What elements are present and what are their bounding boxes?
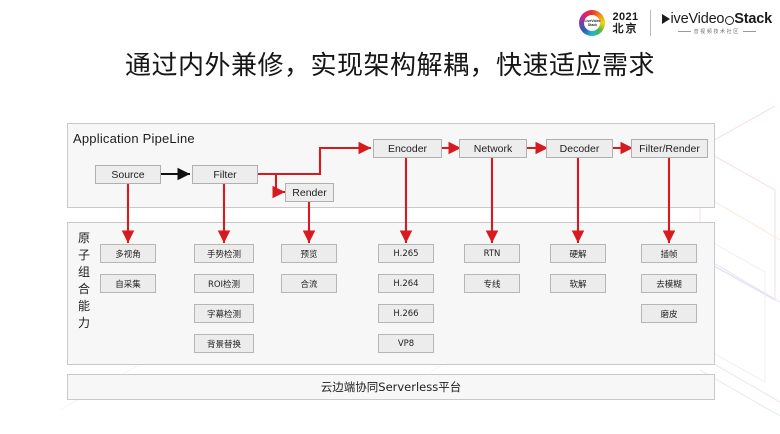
brand-dot-icon xyxy=(725,16,734,25)
atomic-node-filter-render-2[interactable]: 磨皮 xyxy=(641,304,697,323)
atomic-node-encoder-2[interactable]: H.266 xyxy=(378,304,434,323)
atomic-node-filter-3[interactable]: 背景替换 xyxy=(194,334,254,353)
pipeline-node-network[interactable]: Network xyxy=(459,139,527,158)
tagline-dash-left xyxy=(678,31,691,32)
tagline-text: 音视频技术社区 xyxy=(694,28,740,35)
atomic-node-filter-0[interactable]: 手势检测 xyxy=(194,244,254,263)
atomic-node-filter-render-1[interactable]: 去模糊 xyxy=(641,274,697,293)
atomic-node-label: H.266 xyxy=(393,309,418,319)
pipeline-node-label: Network xyxy=(474,143,513,155)
tagline-dash-right xyxy=(743,31,756,32)
atomic-node-render-0[interactable]: 预览 xyxy=(281,244,337,263)
pipeline-node-label: Render xyxy=(292,187,326,199)
conference-city: 北京 xyxy=(612,23,638,36)
pipeline-node-decoder[interactable]: Decoder xyxy=(546,139,613,158)
brand-video: Video xyxy=(688,11,724,27)
atomic-node-filter-1[interactable]: ROI检测 xyxy=(194,274,254,293)
atomic-node-decoder-1[interactable]: 软解 xyxy=(550,274,606,293)
pipeline-node-label: Source xyxy=(111,169,144,181)
atomic-node-label: 合流 xyxy=(300,278,317,290)
atomic-node-label: 手势检测 xyxy=(207,248,241,260)
pipeline-node-filter-render[interactable]: Filter/Render xyxy=(631,139,708,158)
atomic-node-label: 背景替换 xyxy=(207,338,241,350)
atomic-capability-side-label: 原子组合能力 xyxy=(73,230,95,332)
slide-header: LiveVideo Stack 2021 北京 ive Video Stack … xyxy=(579,6,772,40)
atomic-node-label: 预览 xyxy=(300,248,317,260)
pipeline-node-source[interactable]: Source xyxy=(95,165,161,184)
atomic-node-network-1[interactable]: 专线 xyxy=(464,274,520,293)
serverless-platform-label: 云边端协同Serverless平台 xyxy=(321,379,461,395)
atomic-node-encoder-0[interactable]: H.265 xyxy=(378,244,434,263)
pipeline-node-filter[interactable]: Filter xyxy=(192,165,258,184)
pipeline-node-render[interactable]: Render xyxy=(285,183,334,202)
serverless-platform-bar: 云边端协同Serverless平台 xyxy=(67,374,715,400)
atomic-node-source-1[interactable]: 自采集 xyxy=(100,274,156,293)
conference-year-city: 2021 北京 xyxy=(612,11,638,36)
pipeline-node-label: Decoder xyxy=(560,143,600,155)
pipeline-panel-title: Application PipeLine xyxy=(73,131,195,146)
header-divider xyxy=(650,10,651,36)
atomic-node-label: 多视角 xyxy=(115,248,141,260)
livevideostack-wordmark: ive Video Stack xyxy=(662,11,772,27)
atomic-node-filter-render-0[interactable]: 插帧 xyxy=(641,244,697,263)
brand-live: ive xyxy=(671,11,689,27)
brand-stack: Stack xyxy=(734,11,772,27)
atomic-node-decoder-0[interactable]: 硬解 xyxy=(550,244,606,263)
atomic-node-label: H.265 xyxy=(393,249,418,259)
atomic-node-label: 硬解 xyxy=(569,248,586,260)
livevideostack-tagline: 音视频技术社区 xyxy=(675,28,759,35)
atomic-node-label: 插帧 xyxy=(660,248,677,260)
atomic-node-label: ROI检测 xyxy=(208,278,240,290)
livevideostack-logo: ive Video Stack 音视频技术社区 xyxy=(662,11,772,35)
atomic-node-label: 专线 xyxy=(483,278,500,290)
atomic-node-label: 字幕检测 xyxy=(207,308,241,320)
conference-year: 2021 xyxy=(612,11,638,24)
atomic-node-label: RTN xyxy=(484,249,501,259)
atomic-node-label: 去模糊 xyxy=(656,278,682,290)
atomic-node-render-1[interactable]: 合流 xyxy=(281,274,337,293)
slide-canvas: LiveVideo Stack 2021 北京 ive Video Stack … xyxy=(0,0,780,434)
play-triangle-icon xyxy=(662,14,670,24)
pipeline-node-label: Filter xyxy=(213,169,236,181)
atomic-node-label: 软解 xyxy=(569,278,586,290)
atomic-node-label: 磨皮 xyxy=(660,308,677,320)
pipeline-node-encoder[interactable]: Encoder xyxy=(373,139,442,158)
atomic-node-label: VP8 xyxy=(398,339,414,349)
atomic-node-network-0[interactable]: RTN xyxy=(464,244,520,263)
atomic-node-filter-2[interactable]: 字幕检测 xyxy=(194,304,254,323)
atomic-node-label: 自采集 xyxy=(115,278,141,290)
atomic-node-encoder-3[interactable]: VP8 xyxy=(378,334,434,353)
pipeline-node-label: Encoder xyxy=(388,143,427,155)
pipeline-node-label: Filter/Render xyxy=(639,143,700,155)
conference-logo-ring-icon: LiveVideo Stack xyxy=(579,10,605,36)
atomic-node-source-0[interactable]: 多视角 xyxy=(100,244,156,263)
atomic-node-label: H.264 xyxy=(393,279,418,289)
slide-title: 通过内外兼修，实现架构解耦，快速适应需求 xyxy=(0,45,780,82)
atomic-node-encoder-1[interactable]: H.264 xyxy=(378,274,434,293)
logo-ring-text: LiveVideo Stack xyxy=(579,10,605,36)
